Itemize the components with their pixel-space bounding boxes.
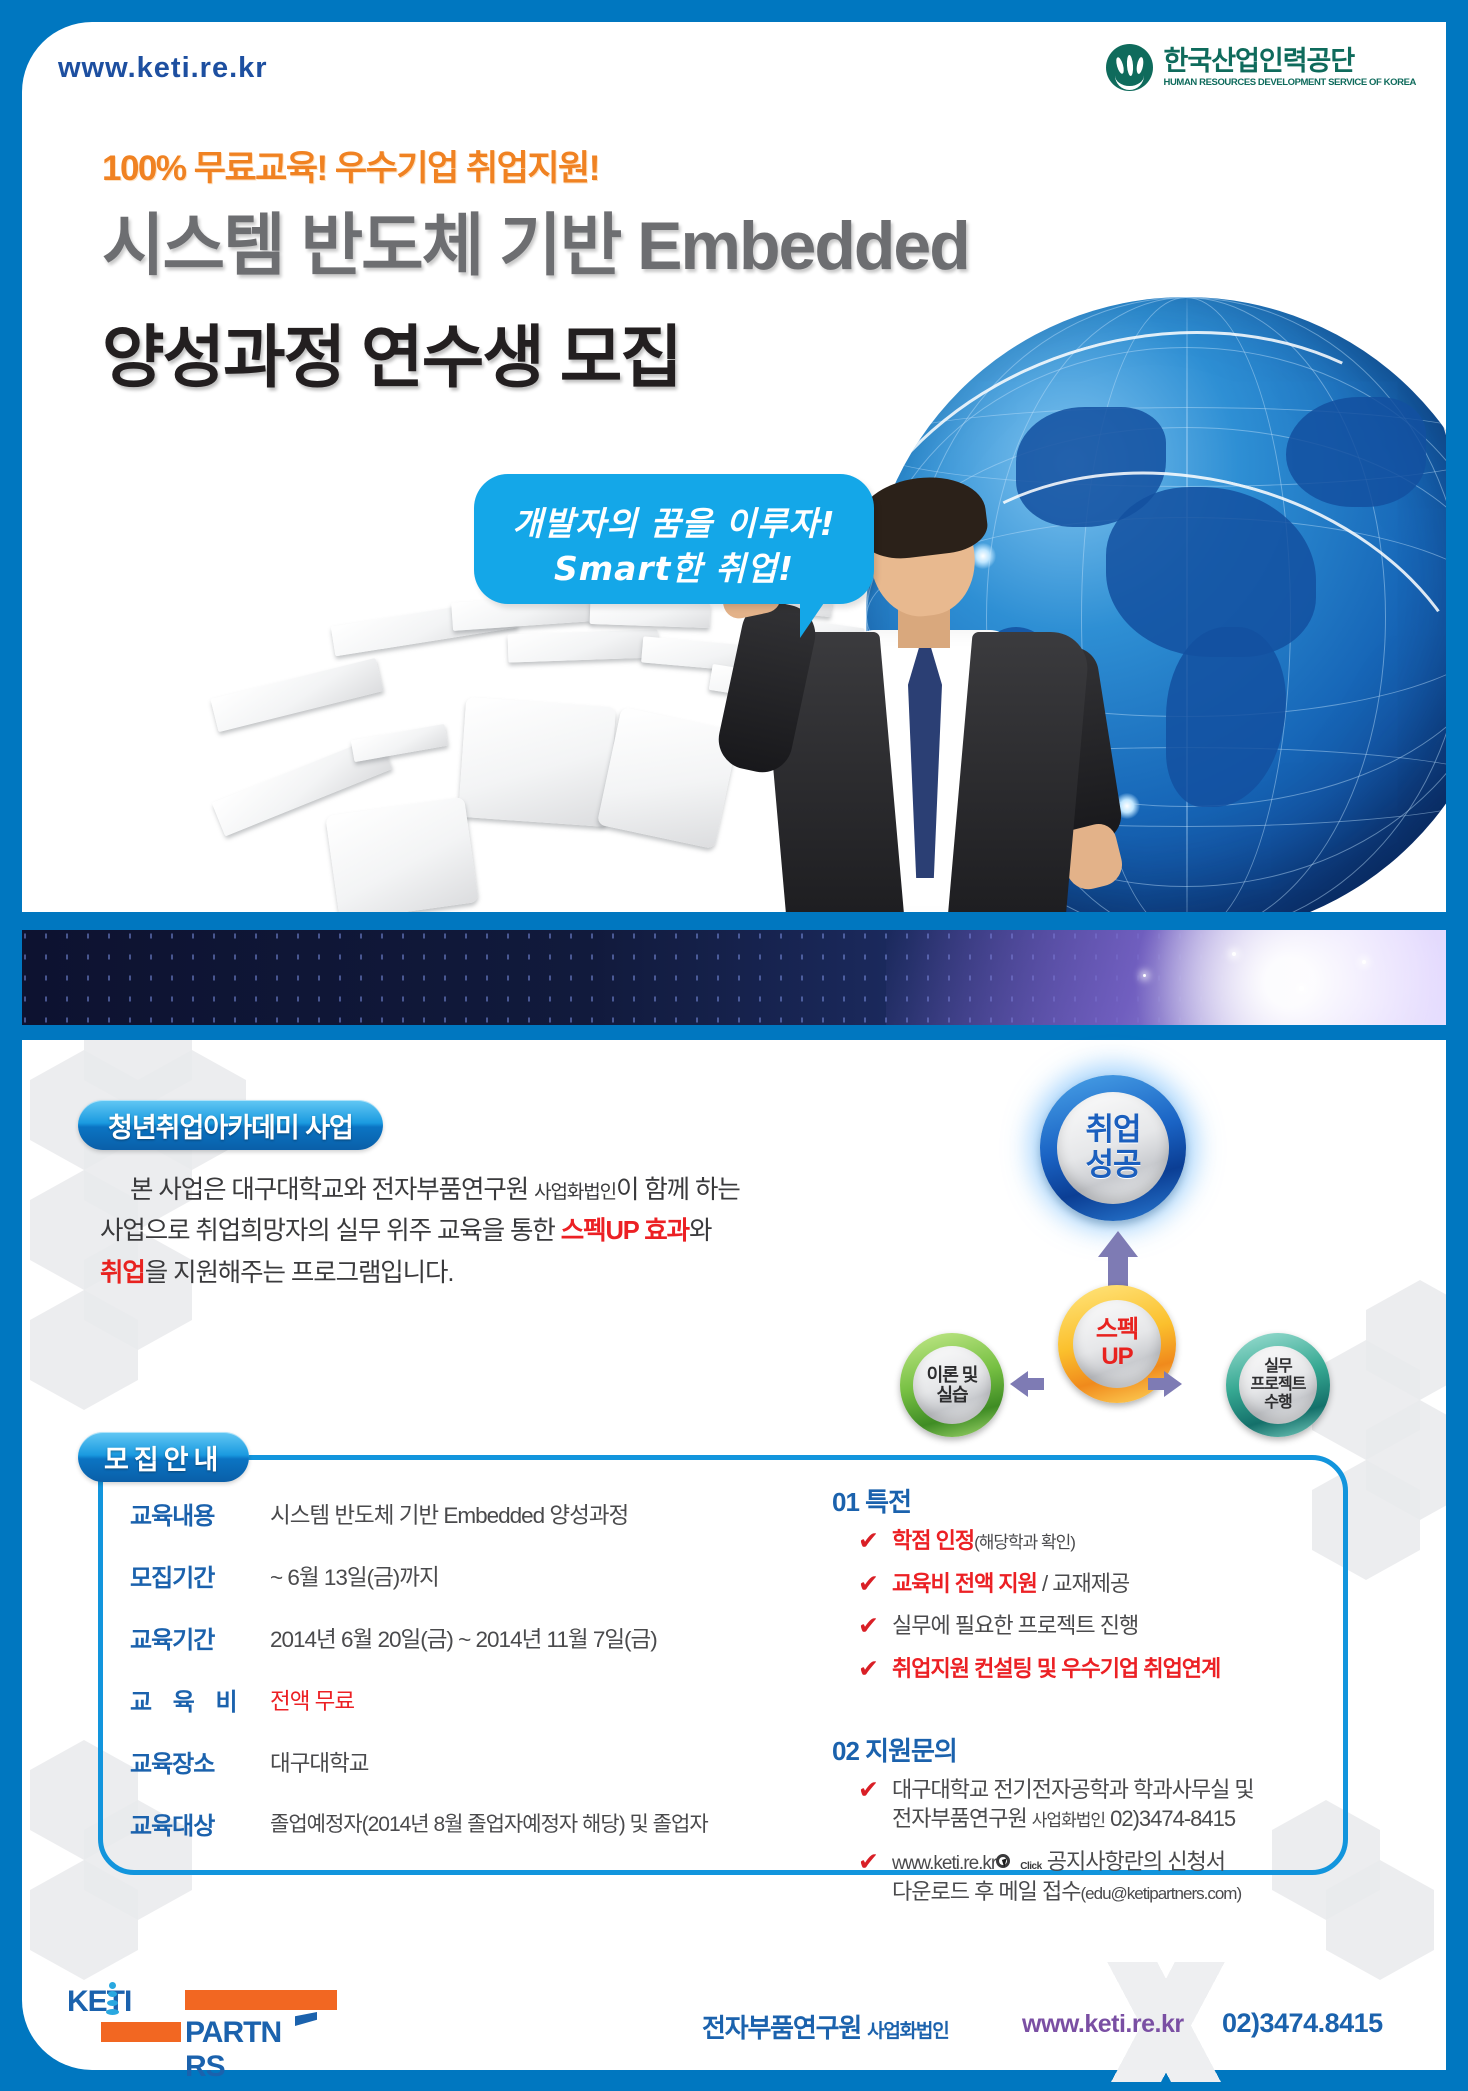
inquiry-item1-line2c: 02)3474-8415 (1105, 1806, 1235, 1831)
inquiry-title: 02 지원문의 (832, 1731, 1332, 1768)
tech-banner-graphic (22, 930, 1446, 1025)
orb-employment-success: 취업 성공 (1040, 1075, 1186, 1221)
click-cursor-icon (996, 1854, 1020, 1872)
row-key: 모집기간 (130, 1558, 252, 1593)
table-row: 교육기간 2014년 6월 20일(금) ~ 2014년 11월 7일(금) (130, 1620, 750, 1682)
speech-bubble-line2: Smart한 취업! (474, 542, 874, 590)
hero-title-line2: 양성과정 연수생 모집 (102, 302, 681, 401)
row-value: 전액 무료 (270, 1684, 830, 1716)
row-value: 졸업예정자(2014년 8월 졸업자예정자 해당) 및 졸업자 (270, 1808, 830, 1838)
orb-theory-line1: 이론 및 (927, 1365, 978, 1385)
row-value: 2014년 6월 20일(금) ~ 2014년 11월 7일(금) (270, 1622, 830, 1654)
list-item: ✔교육비 전액 지원 / 교재제공 (858, 1569, 1332, 1599)
orb-spec-line1: 스펙 (1096, 1317, 1138, 1344)
keti-partners-logo: KETI PARTN RS (67, 1982, 292, 2056)
hero-panel: www.keti.re.kr 한국산업인력공단 HUMAN RESOURCES … (22, 22, 1446, 912)
orb-theory-practice: 이론 및 실습 (900, 1333, 1004, 1437)
table-row: 교육대상 졸업예정자(2014년 8월 졸업자예정자 해당) 및 졸업자 (130, 1806, 750, 1868)
poster-root: www.keti.re.kr 한국산업인력공단 HUMAN RESOURCES … (0, 0, 1468, 2091)
check-icon: ✔ (858, 1653, 878, 1687)
hrdk-logo-english: HUMAN RESOURCES DEVELOPMENT SERVICE OF K… (1164, 78, 1416, 88)
benefit-main: 학점 인정 (892, 1528, 974, 1553)
table-row: 교육내용 시스템 반도체 기반 Embedded 양성과정 (130, 1496, 750, 1558)
table-row: 모집기간 ~ 6월 13일(금)까지 (130, 1558, 750, 1620)
row-key: 교육대상 (130, 1806, 252, 1841)
inquiry-item1-line2a: 전자부품연구원 (892, 1806, 1032, 1831)
row-value: 시스템 반도체 기반 Embedded 양성과정 (270, 1498, 830, 1530)
partners-wordmark: PARTN RS (185, 2016, 292, 2084)
hrdk-mark-icon (1106, 44, 1153, 91)
table-row: 교육장소 대구대학교 (130, 1744, 750, 1806)
benefit-main: 교육비 전액 지원 (892, 1571, 1037, 1596)
footer-org-small: 사업화법인 (867, 2021, 948, 2042)
specup-diagram: 취업 성공 스펙 UP 이론 및 실습 (900, 1075, 1330, 1405)
speech-bubble-line1: 개발자의 꿈을 이루자! (474, 497, 874, 545)
table-row: 교 육 비 전액 무료 (130, 1682, 750, 1744)
row-key: 교 육 비 (130, 1682, 252, 1717)
academy-p3b: 을 지원해주는 프로그램입니다. (145, 1259, 454, 1287)
academy-p1a: 본 사업은 대구대학교와 전자부품연구원 (130, 1176, 534, 1204)
speech-bubble: 개발자의 꿈을 이루자! Smart한 취업! (474, 474, 874, 604)
orb-success-line1: 취업 (1085, 1113, 1140, 1148)
row-key: 교육내용 (130, 1496, 252, 1531)
site-url[interactable]: www.keti.re.kr (58, 52, 268, 85)
academy-paragraph: 본 사업은 대구대학교와 전자부품연구원 사업화법인이 함께 하는 사업으로 취… (100, 1170, 780, 1294)
recruit-details-list: 교육내용 시스템 반도체 기반 Embedded 양성과정 모집기간 ~ 6월 … (130, 1496, 750, 1868)
benefit-main: 실무에 필요한 프로젝트 진행 (892, 1613, 1138, 1638)
benefits-title: 01 특전 (832, 1482, 1332, 1519)
check-icon: ✔ (858, 1525, 878, 1559)
check-icon: ✔ (858, 1846, 878, 1880)
orb-spec-line2: UP (1096, 1344, 1138, 1371)
inquiry-website-link[interactable]: www.keti.re.kr (892, 1853, 996, 1874)
check-icon: ✔ (858, 1774, 878, 1808)
academy-p2c: 와 (689, 1217, 711, 1245)
inquiry-list: ✔ 대구대학교 전기전자공학과 학과사무실 및 전자부품연구원 사업화법인 02… (858, 1775, 1332, 1907)
footer-org-name: 전자부품연구원 사업화법인 (702, 2008, 948, 2045)
orb-project-line3: 수행 (1251, 1394, 1306, 1412)
footer-tel: 02)3474.8415 (1222, 2008, 1383, 2039)
list-item: ✔취업지원 컨설팅 및 우수기업 취업연계 (858, 1654, 1332, 1684)
hero-kicker: 100% 무료교육! 우수기업 취업지원! (102, 140, 599, 191)
inquiry-item1-line2b: 사업화법인 (1032, 1811, 1105, 1830)
benefit-rest: / 교재제공 (1037, 1571, 1129, 1596)
recruit-section-pill: 모집안내 (78, 1432, 249, 1482)
inquiry-item2-rest: 공지사항란의 신청서 (1042, 1849, 1225, 1874)
academy-p3a: 취업 (100, 1259, 145, 1287)
click-label: Click (1020, 1861, 1041, 1872)
footer-org-main: 전자부품연구원 (702, 2013, 867, 2043)
partners-flag-icon (295, 2012, 317, 2026)
academy-p1b: 사업화법인 (534, 1182, 616, 1203)
academy-section-pill: 청년취업아카데미 사업 (78, 1100, 383, 1150)
hrdk-logo-korean: 한국산업인력공단 (1164, 48, 1416, 75)
orb-field-project: 실무 프로젝트 수행 (1226, 1333, 1330, 1437)
list-item: ✔학점 인정(해당학과 확인) (858, 1526, 1332, 1556)
row-value: ~ 6월 13일(금)까지 (270, 1560, 830, 1592)
benefit-main: 취업지원 컨설팅 및 우수기업 취업연계 (892, 1656, 1220, 1681)
orb-project-line1: 실무 (1251, 1358, 1306, 1376)
orb-theory-line2: 실습 (927, 1385, 978, 1405)
academy-p2b: 스펙UP 효과 (561, 1217, 689, 1245)
keti-dots-icon (106, 1982, 122, 2022)
hero-title-line1: 시스템 반도체 기반 Embedded (102, 190, 969, 289)
inquiry-item2-line2a: 다운로드 후 메일 접수 (892, 1879, 1081, 1904)
row-key: 교육장소 (130, 1744, 252, 1779)
benefit-note: (해당학과 확인) (974, 1533, 1075, 1552)
row-key: 교육기간 (130, 1620, 252, 1655)
academy-p1c: 이 함께 하는 (616, 1176, 740, 1204)
academy-p2a: 사업으로 취업희망자의 실무 위주 교육을 통한 (100, 1217, 561, 1245)
check-icon: ✔ (858, 1568, 878, 1602)
row-value: 대구대학교 (270, 1746, 830, 1778)
list-item: ✔ www.keti.re.krClick 공지사항란의 신청서 다운로드 후 … (858, 1847, 1332, 1906)
recruit-right-column: 01 특전 ✔학점 인정(해당학과 확인) ✔교육비 전액 지원 / 교재제공 … (832, 1482, 1332, 1920)
benefits-list: ✔학점 인정(해당학과 확인) ✔교육비 전액 지원 / 교재제공 ✔실무에 필… (858, 1526, 1332, 1684)
orb-success-line2: 성공 (1085, 1148, 1140, 1183)
list-item: ✔ 대구대학교 전기전자공학과 학과사무실 및 전자부품연구원 사업화법인 02… (858, 1775, 1332, 1834)
footer: KETI PARTN RS 전자부품연구원 사업화법인 www.keti.re.… (22, 1968, 1446, 2070)
inquiry-email[interactable]: (edu@ketipartners.com) (1081, 1884, 1242, 1903)
check-icon: ✔ (858, 1610, 878, 1644)
inquiry-item1-line1: 대구대학교 전기전자공학과 학과사무실 및 (892, 1777, 1254, 1802)
orb-project-line2: 프로젝트 (1251, 1376, 1306, 1394)
hrdk-logo: 한국산업인력공단 HUMAN RESOURCES DEVELOPMENT SER… (1106, 44, 1416, 91)
list-item: ✔실무에 필요한 프로젝트 진행 (858, 1611, 1332, 1641)
footer-url[interactable]: www.keti.re.kr (1022, 2010, 1184, 2039)
